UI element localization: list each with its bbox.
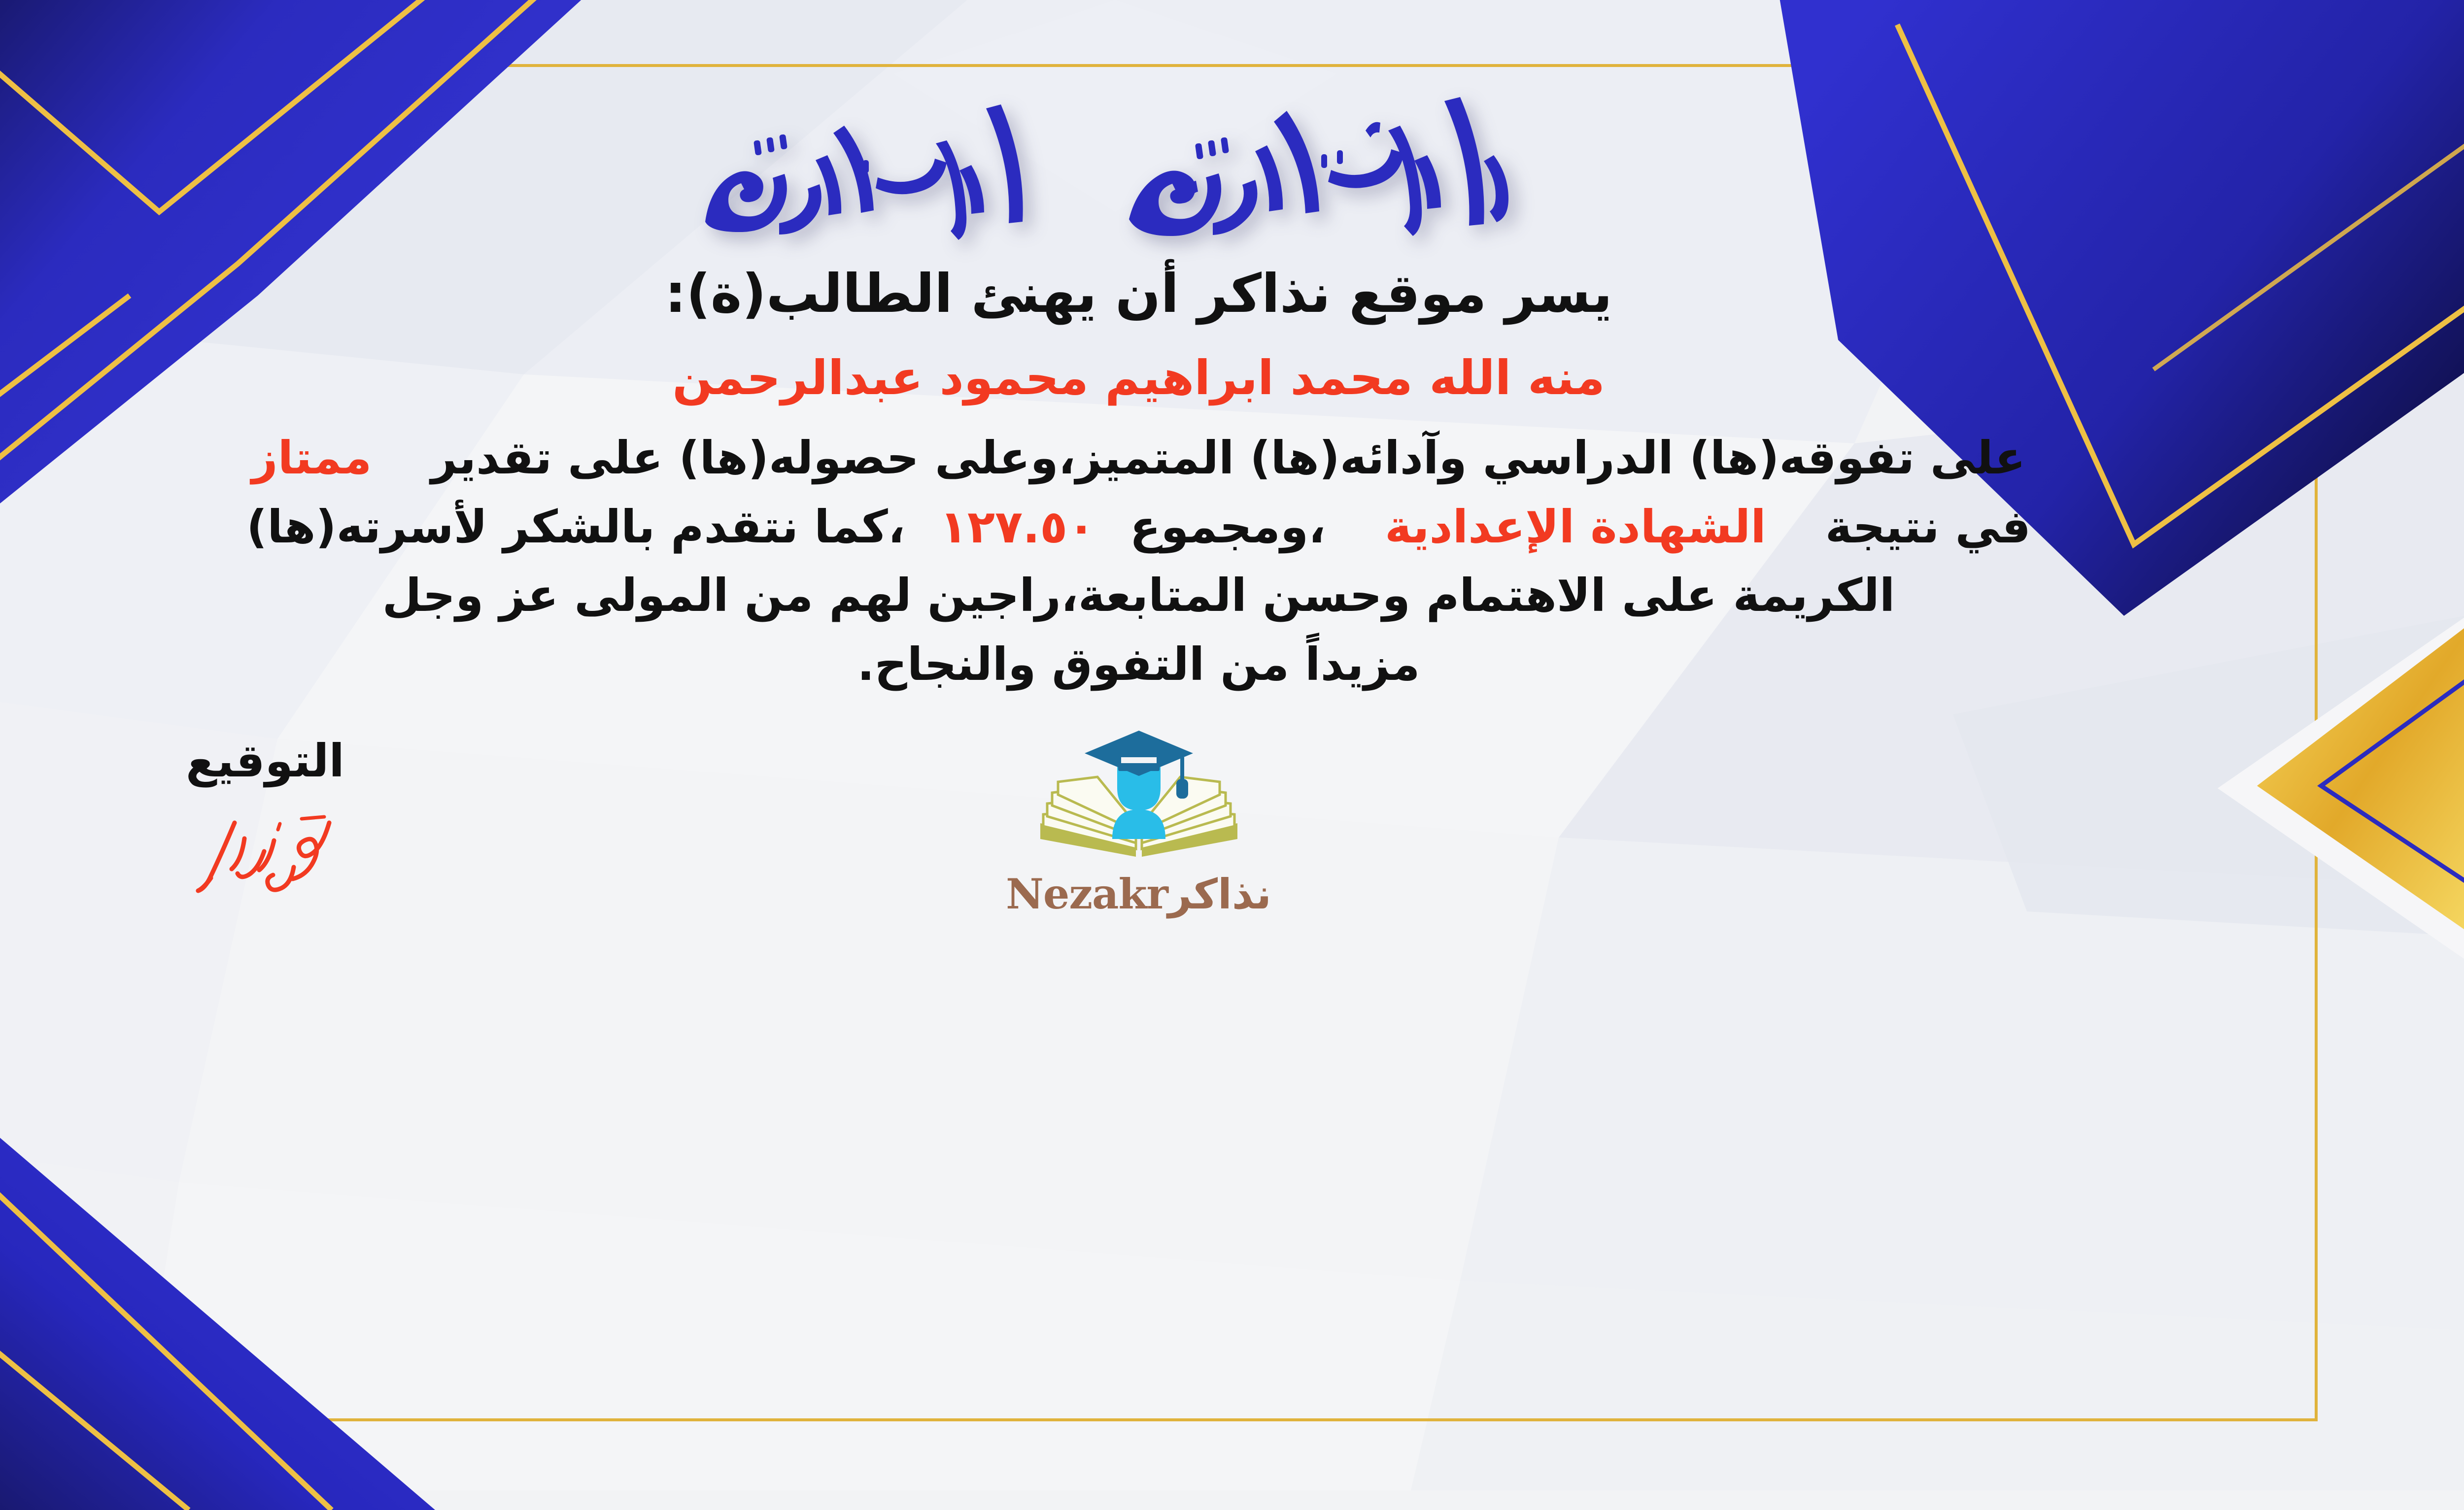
- title-calligraphy-shahadat-taqdir: [631, 96, 1646, 244]
- total-label: ،ومجموع: [1129, 501, 1326, 553]
- grade-value: ممتاز: [252, 432, 372, 484]
- exam-name: الشهادة الإعدادية: [1385, 501, 1766, 553]
- certificate-content: يسر موقع نذاكر أن يهنئ الطالب(ة): منه ال…: [0, 64, 2318, 1421]
- student-name: منه الله محمد ابراهيم محمود عبدالرحمن: [0, 347, 2318, 409]
- certificate-title: [0, 91, 2318, 249]
- result-prefix: في نتيجة: [1825, 501, 2031, 553]
- brand-logo: Nezakrنذاكر: [0, 725, 2318, 918]
- greeting-line: يسر موقع نذاكر أن يهنئ الطالب(ة):: [0, 260, 2318, 329]
- certificate-body: يسر موقع نذاكر أن يهنئ الطالب(ة): منه ال…: [0, 260, 2318, 704]
- achievement-line: على تفوقه(ها) الدراسي وآدائه(ها) المتميز…: [0, 429, 2318, 488]
- achievement-text: على تفوقه(ها) الدراسي وآدائه(ها) المتميز…: [431, 432, 2025, 484]
- result-line: في نتيجةالشهادة الإعدادية،ومجموع١٢٧.٥٠،ك…: [0, 498, 2318, 557]
- brand-wordmark: Nezakrنذاكر: [1006, 870, 1271, 918]
- thanks-prefix: ،كما نتقدم بالشكر لأسرته(ها): [246, 501, 905, 553]
- brand-arabic: نذاكر: [1168, 870, 1271, 918]
- total-score: ١٢٧.٥٠: [940, 501, 1095, 553]
- family-thanks-line: الكريمة على الاهتمام وحسن المتابعة،راجين…: [0, 566, 2318, 625]
- certificate-footer: التوقيع: [0, 735, 2318, 951]
- closing-line: مزيداً من التفوق والنجاح.: [0, 635, 2318, 694]
- brand-latin: Nezakr: [1006, 870, 1168, 918]
- graduation-book-logo-icon: [1030, 725, 1247, 872]
